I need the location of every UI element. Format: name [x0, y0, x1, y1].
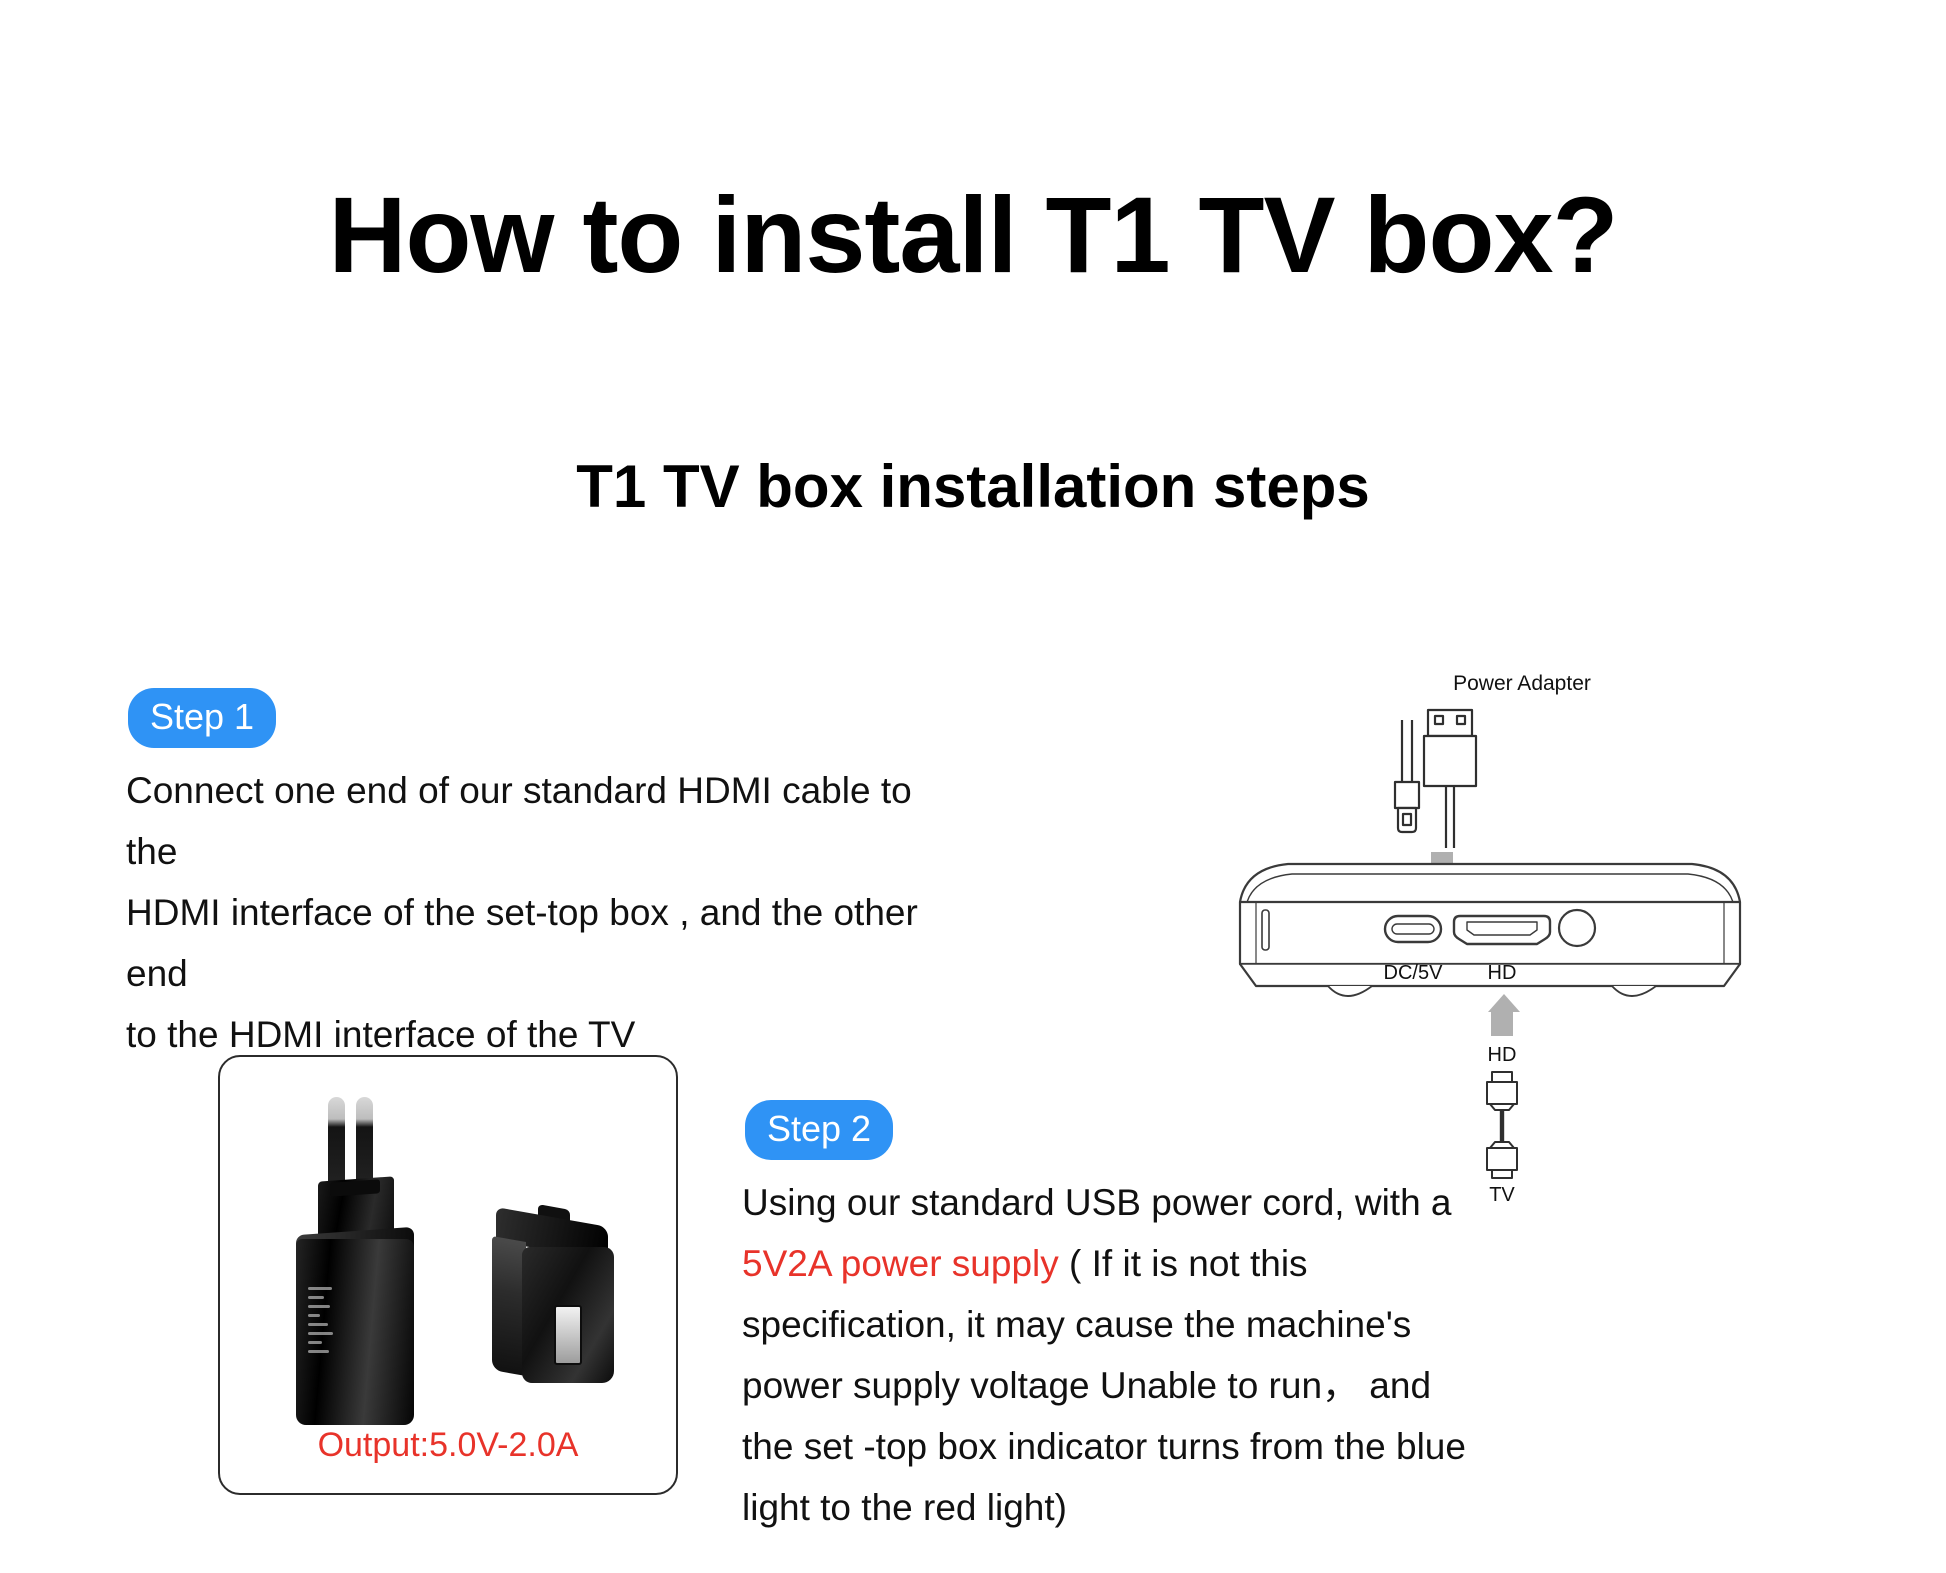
hdmi-cable-tv-label: TV — [1452, 1184, 1552, 1207]
set-top-box-illustration — [1232, 854, 1812, 1024]
step-2-text: Using our standard USB power cord, with … — [742, 1172, 1482, 1538]
page-title: How to install T1 TV box? — [0, 178, 1946, 291]
adapter-spec-print — [308, 1287, 334, 1393]
adapter-usb-side-view — [492, 1217, 632, 1402]
install-guide-page: How to install T1 TV box? T1 TV box inst… — [0, 0, 1946, 1573]
step-1-text: Connect one end of our standard HDMI cab… — [126, 760, 926, 1065]
step-2-text-part-2: ( If it is not this specification, it ma… — [742, 1243, 1466, 1528]
hdmi-cable-top-label: HD — [1452, 1044, 1552, 1067]
step-1-line-2: HDMI interface of the set-top box , and … — [126, 882, 926, 1004]
adapter-output-caption: Output:5.0V-2.0A — [220, 1426, 676, 1465]
device-wiring-diagram: Power Adapter — [1232, 672, 1812, 1122]
power-adapter-figure: Output:5.0V-2.0A — [218, 1055, 678, 1495]
hdmi-port-label: HD — [1452, 962, 1552, 985]
step-1-badge: Step 1 — [128, 688, 276, 748]
power-adapter-diagram-label: Power Adapter — [1232, 672, 1812, 696]
step-2-highlight: 5V2A power supply — [742, 1243, 1059, 1284]
page-subtitle: T1 TV box installation steps — [0, 455, 1946, 518]
dc5v-port-label: DC/5V — [1363, 962, 1463, 985]
step-2-text-part-1: Using our standard USB power cord, with … — [742, 1182, 1452, 1223]
adapter-eu-plug-view — [290, 1079, 420, 1409]
step-1-line-1: Connect one end of our standard HDMI cab… — [126, 760, 926, 882]
step-2-badge: Step 2 — [745, 1100, 893, 1160]
usb-a-port-icon — [554, 1305, 582, 1365]
hdmi-cable-illustration — [1442, 1070, 1562, 1180]
adapter-side-panel — [492, 1236, 526, 1376]
hdmi-insert-arrow — [1488, 994, 1516, 1036]
